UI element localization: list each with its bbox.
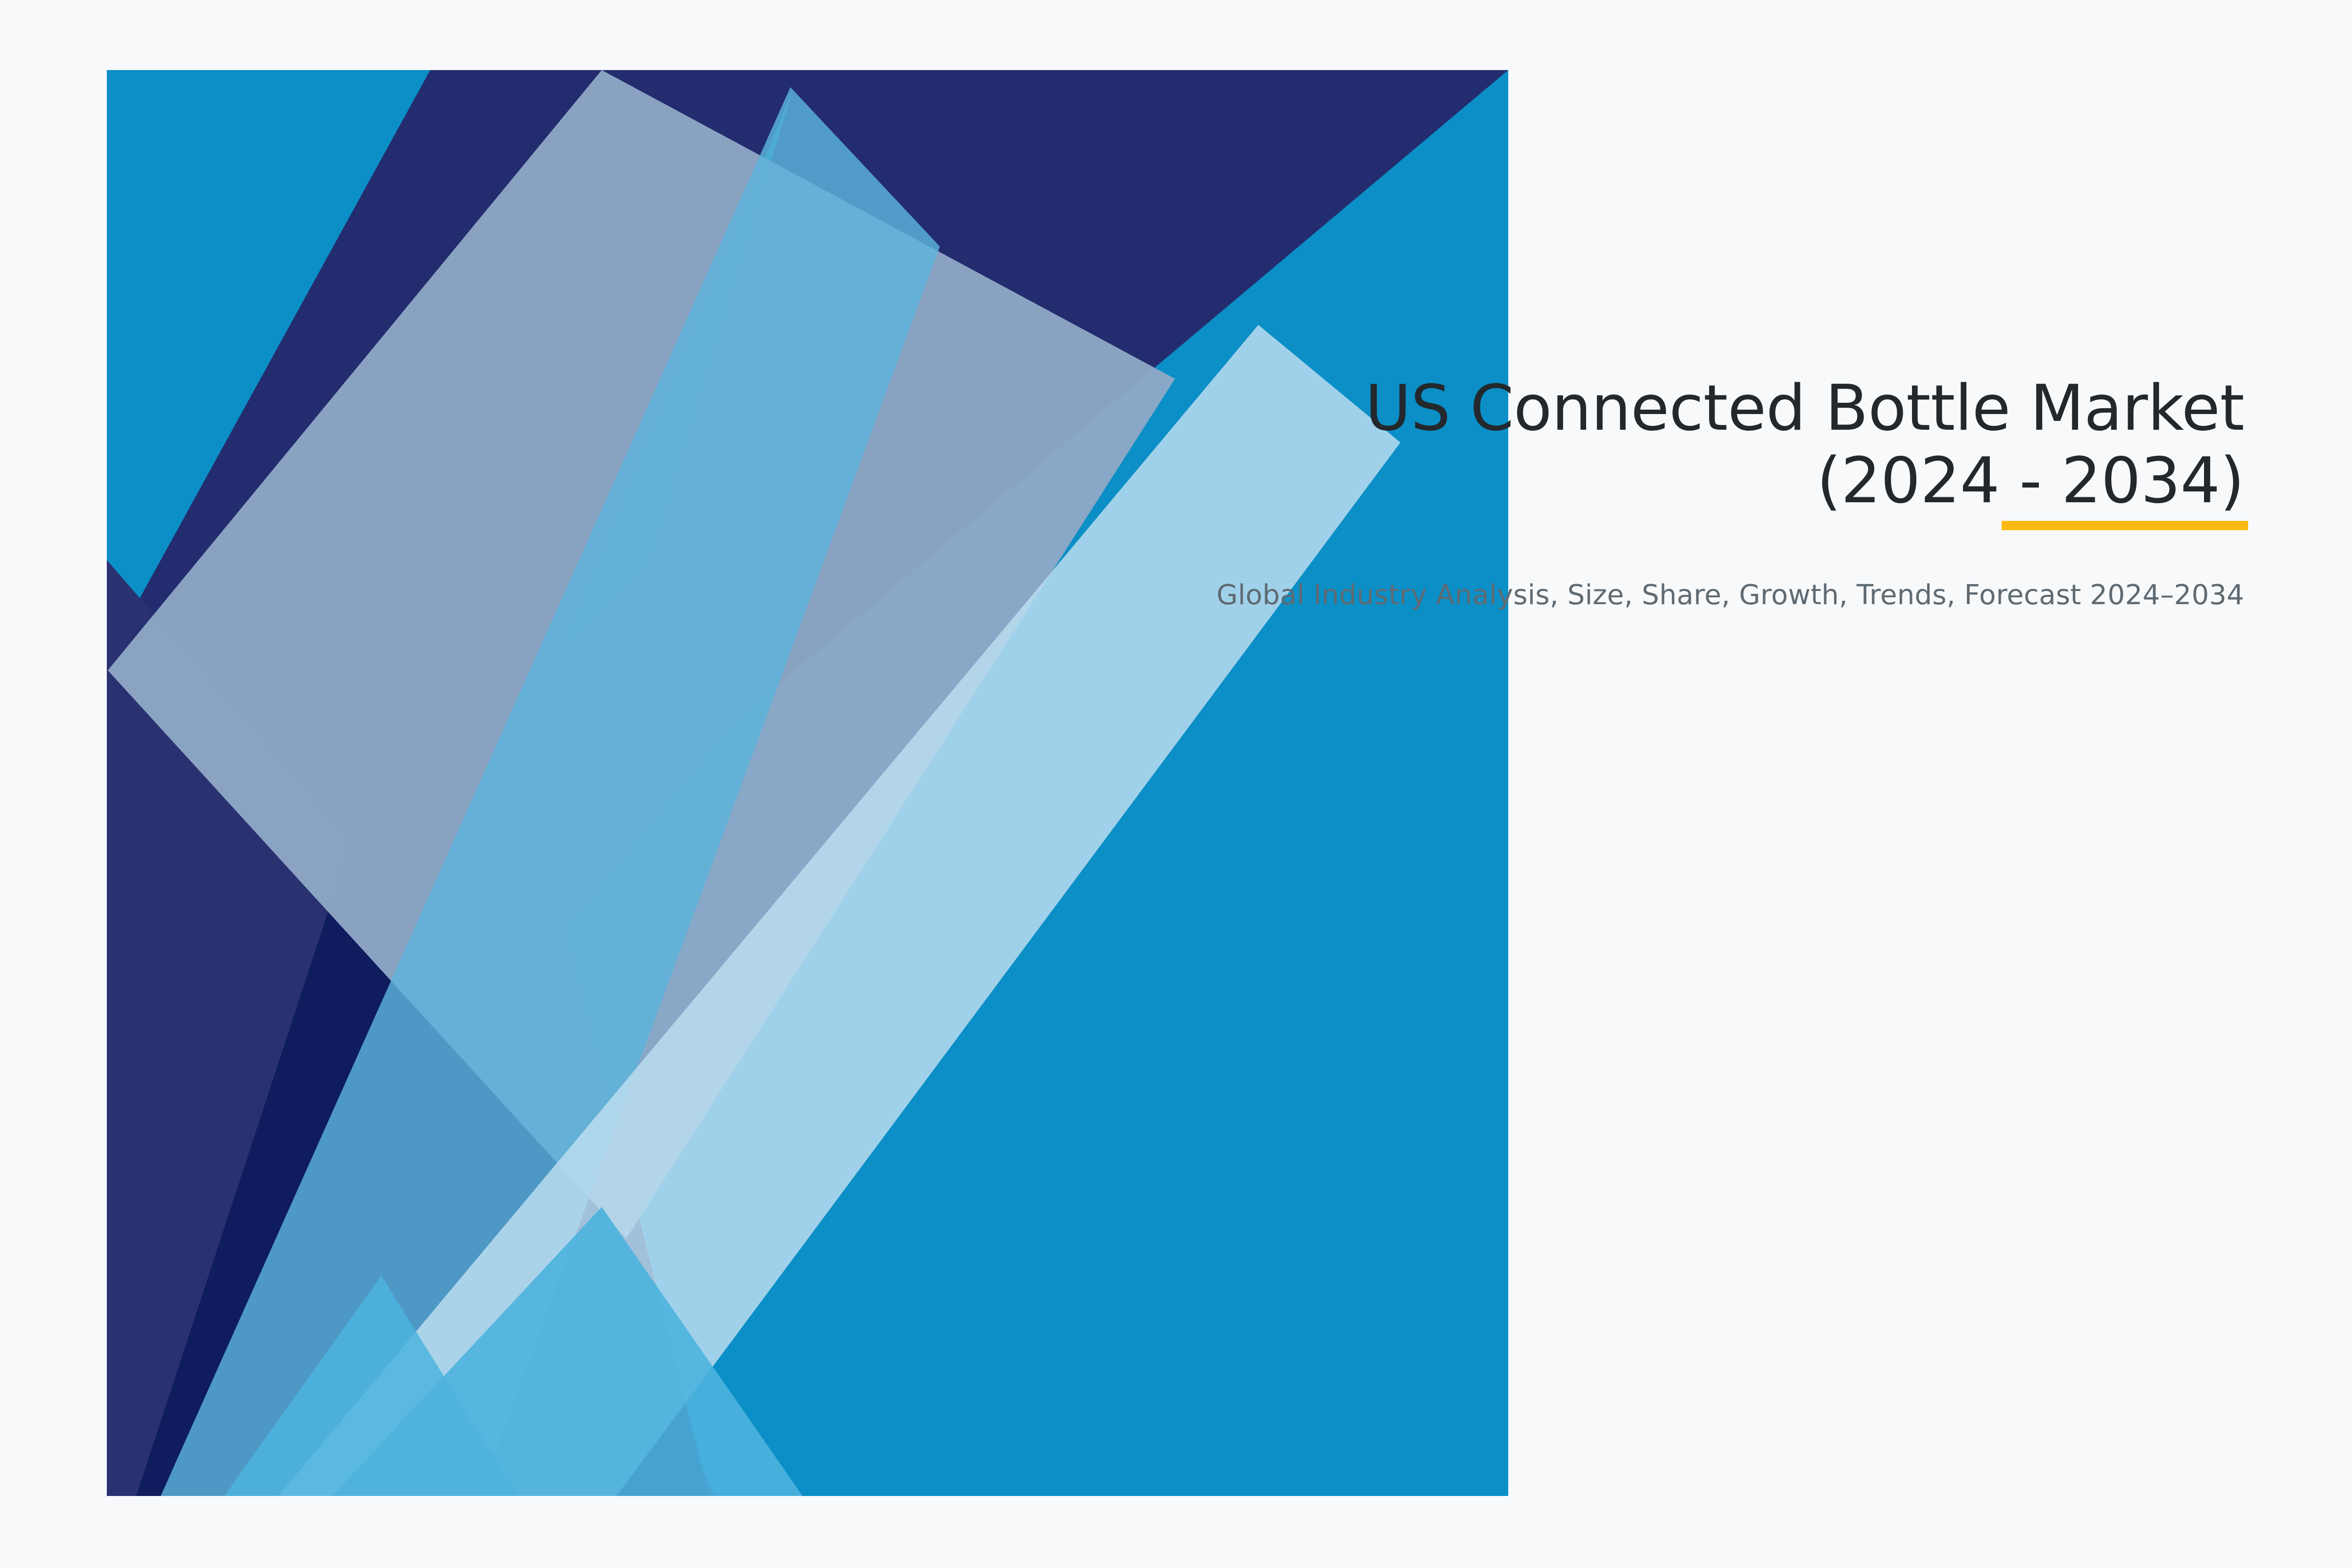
report-cover-slide: US Connected Bottle Market (2024 - 2034)… — [0, 0, 2352, 1568]
abstract-geometric-artwork — [107, 70, 1508, 1496]
page-subtitle: Global Industry Analysis, Size, Share, G… — [1215, 576, 2244, 615]
page-title: US Connected Bottle Market (2024 - 2034) — [1215, 372, 2244, 518]
artwork-svg — [107, 70, 1508, 1496]
cover-text-block: US Connected Bottle Market (2024 - 2034)… — [1215, 372, 2244, 614]
